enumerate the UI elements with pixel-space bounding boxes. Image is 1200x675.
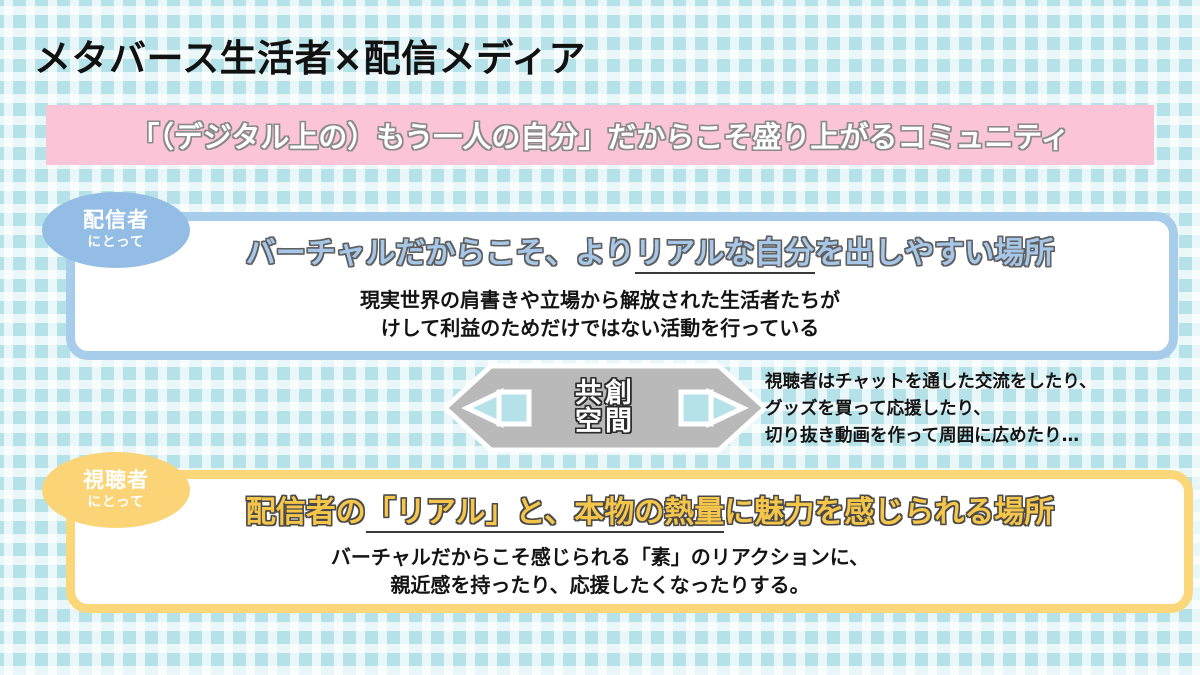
viewer-activity-note: 視聴者はチャットを通した交流をしたり、 グッズを買って応援したり、 切り抜き動画… — [765, 369, 1097, 450]
slide-background: メタバース生活者×配信メディア 「（デジタル上の）もう一人の自分」だからこそ盛り… — [0, 0, 1200, 675]
co-creation-label-line2: 空間 — [575, 408, 635, 436]
viewer-headline-suffix: に魅力を感じられる場所 — [724, 495, 1054, 530]
broadcaster-headline-underlined: リアルな自分 — [635, 236, 815, 274]
co-creation-label-line1: 共創 — [575, 380, 635, 408]
viewer-headline: 配信者の「リアル」と、本物の熱量に魅力を感じられる場所 — [0, 487, 1200, 531]
broadcaster-headline-prefix: バーチャルだからこそ、より — [246, 236, 635, 271]
broadcaster-headline: バーチャルだからこそ、よりリアルな自分を出しやすい場所 — [0, 228, 1200, 272]
headline-banner-text: 「（デジタル上の）もう一人の自分」だからこそ盛り上がるコミュニティ — [130, 114, 1069, 156]
broadcaster-body-text: 現実世界の肩書きや立場から解放された生活者たちが けして利益のためだけではない活… — [0, 286, 1200, 343]
co-creation-arrow-label: 共創 空間 — [445, 362, 765, 454]
viewer-headline-underlined: 「リアル」と、本物の熱量 — [366, 495, 725, 533]
viewer-body-text: バーチャルだからこそ感じられる「素」のリアクションに、 親近感を持ったり、応援し… — [0, 543, 1200, 600]
co-creation-arrow: 共創 空間 — [445, 362, 765, 454]
viewer-headline-prefix: 配信者の — [246, 495, 366, 530]
page-title: メタバース生活者×配信メディア — [34, 28, 586, 82]
headline-banner: 「（デジタル上の）もう一人の自分」だからこそ盛り上がるコミュニティ — [46, 105, 1154, 165]
broadcaster-headline-suffix: を出しやすい場所 — [815, 236, 1055, 271]
